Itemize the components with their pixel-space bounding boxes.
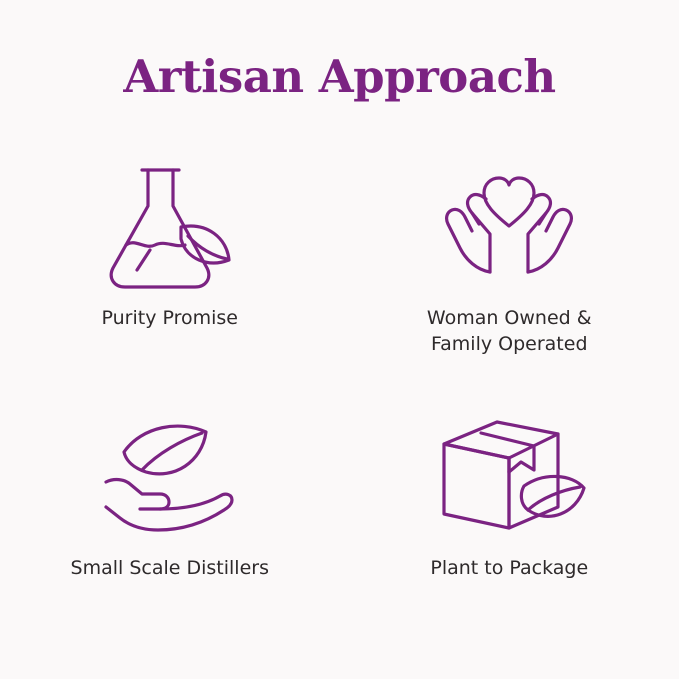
page-title: Artisan Approach [0,50,679,103]
feature-item-purity-promise: Purity Promise [0,150,340,400]
feature-label: Woman Owned & Family Operated [427,306,592,357]
hand-leaf-icon [90,400,250,550]
feature-grid: Purity Promise Woman Owned & Family [0,150,679,650]
flask-leaf-icon [95,150,245,310]
artisan-approach-graphic: Artisan Approach Purity Pr [0,0,679,679]
feature-label: Small Scale Distillers [71,556,269,582]
feature-item-woman-owned: Woman Owned & Family Operated [340,150,679,400]
feature-label: Plant to Package [430,556,588,582]
feature-label: Purity Promise [101,306,238,332]
box-leaf-icon [424,400,594,550]
feature-item-plant-to-package: Plant to Package [340,400,679,650]
hands-heart-icon [424,150,594,310]
feature-item-small-scale-distillers: Small Scale Distillers [0,400,340,650]
